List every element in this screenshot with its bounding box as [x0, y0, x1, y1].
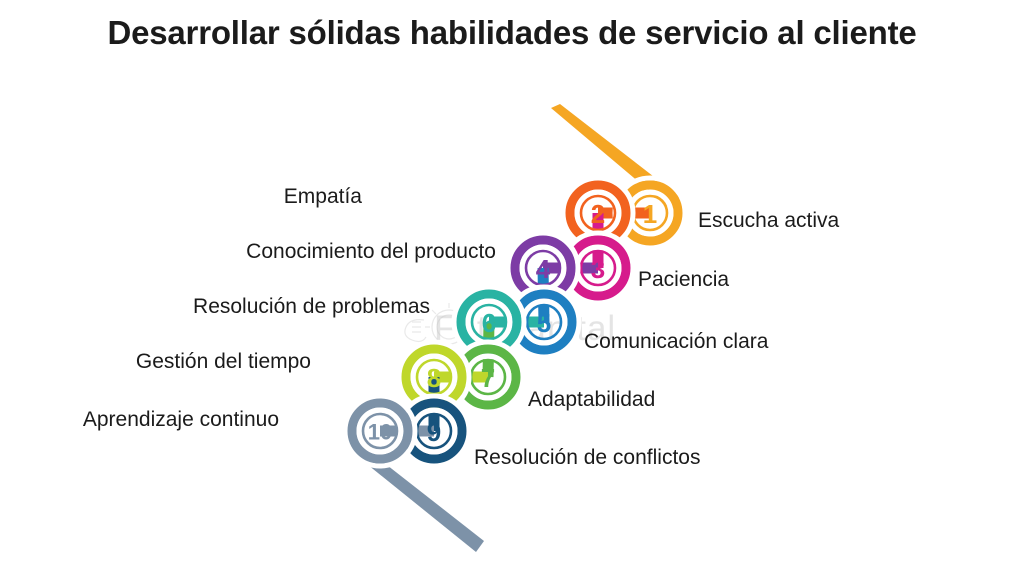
node-label-6: Resolución de problemas — [0, 296, 430, 317]
node-number-3: 3 — [591, 254, 605, 284]
node-number-6: 6 — [482, 308, 496, 338]
node-number-8: 8 — [427, 363, 441, 393]
node-group: 12345678910 — [345, 178, 685, 466]
node-number-1: 1 — [643, 199, 657, 229]
infographic-graphic: 12345678910 — [0, 0, 1024, 576]
node-label-10: Aprendizaje continuo — [0, 409, 279, 430]
node-label-7: Adaptabilidad — [528, 389, 655, 410]
node-label-9: Resolución de conflictos — [474, 447, 700, 468]
node-number-10: 10 — [368, 420, 392, 445]
node-10[interactable]: 10 — [345, 396, 415, 466]
slide-canvas: Desarrollar sólidas habilidades de servi… — [0, 0, 1024, 576]
node-label-4: Conocimiento del producto — [0, 241, 496, 262]
node-label-3: Paciencia — [638, 269, 729, 290]
node-label-8: Gestión del tiempo — [0, 351, 311, 372]
node-number-9: 9 — [427, 417, 441, 447]
node-label-5: Comunicación clara — [584, 331, 768, 352]
node-number-4: 4 — [536, 254, 551, 284]
node-number-2: 2 — [591, 199, 605, 229]
node-label-2: Empatía — [0, 186, 362, 207]
node-label-1: Escucha activa — [698, 210, 839, 231]
node-number-5: 5 — [537, 308, 551, 338]
node-number-7: 7 — [481, 363, 495, 393]
